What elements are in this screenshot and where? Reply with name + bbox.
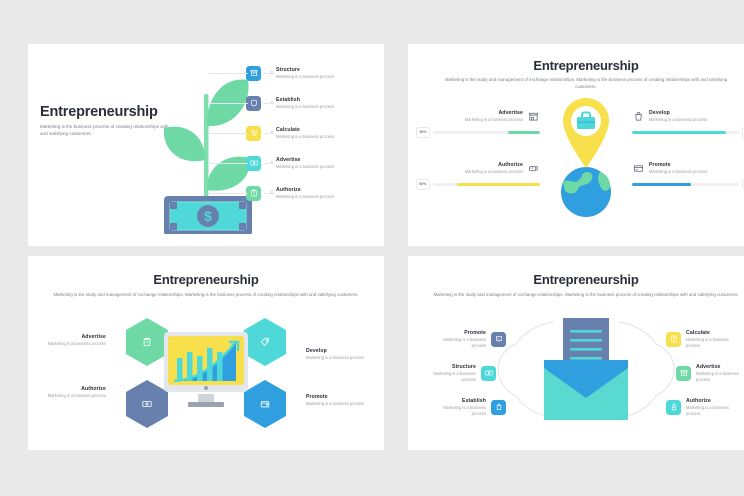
envelope-graphic [538,316,634,426]
node-label: Establish [430,398,486,404]
list-item-text: Calculate Marketing is a business proces… [276,127,376,140]
node-authorize[interactable]: Authorize Marketing is a business proces… [666,398,742,417]
metric-label: Promote [649,162,707,168]
list-item-label: Advertise [276,157,376,163]
list-item-desc: Marketing is a business process [276,194,376,200]
percent-badge: 60% [416,179,430,190]
cart-icon[interactable] [246,126,261,141]
node-label: Advertise [696,364,744,370]
list-item[interactable]: Advertise Marketing is a business proces… [246,148,376,178]
banknote-icon[interactable] [481,366,496,381]
shield-icon[interactable] [246,96,261,111]
progress-track[interactable] [632,183,739,187]
node-desc: Marketing is a business process [430,337,486,349]
node-text: Calculate Marketing is a business proces… [686,330,742,349]
metric-bar-row: 50% [632,179,744,190]
bottle-icon[interactable] [666,400,681,415]
label-promote[interactable]: Promote Marketing is a business process [306,394,368,407]
list-item-text: Authorize Marketing is a business proces… [276,187,376,200]
percent-badge: 30% [416,127,430,138]
connector-line [208,193,248,194]
arrow-icon [264,193,274,194]
node-text: Structure Marketing is a business proces… [420,364,476,383]
node-text: Establish Marketing is a business proces… [430,398,486,417]
presentation-icon[interactable] [491,332,506,347]
list-item[interactable]: Structure Marketing is a business proces… [246,58,376,88]
label-title: Promote [306,394,368,400]
node-label: Structure [420,364,476,370]
list-item-text: Advertise Marketing is a business proces… [276,157,376,170]
slide-grid: Entrepreneurship Marketing is the busine… [0,0,744,496]
metric-text: Authorize Marketing is a business proces… [465,162,523,175]
metric-item[interactable]: Develop Marketing is a business process … [632,110,744,162]
calculator-icon[interactable] [666,332,681,347]
node-structure[interactable]: Structure Marketing is a business proces… [420,364,496,383]
label-desc: Marketing is a business process [306,401,368,407]
list-item-label: Structure [276,67,376,73]
label-desc: Marketing is a business process [306,355,368,361]
progress-fill [508,131,540,135]
metric-label: Advertise [465,110,523,116]
list-item-label: Calculate [276,127,376,133]
metric-text: Promote Marketing is a business process [649,162,707,175]
metric-desc: Marketing is a business process [465,117,523,123]
list-item-label: Authorize [276,187,376,193]
progress-fill [632,131,726,135]
slide4-subtitle: Marketing is the study and management of… [432,292,740,299]
slide2-left-column: Advertise Marketing is a business proces… [416,110,540,214]
slide3-subtitle: Marketing is the study and management of… [52,292,360,299]
label-advertise[interactable]: Advertise Marketing is a business proces… [44,334,106,347]
list-item-desc: Marketing is a business process [276,74,376,80]
arrow-icon [264,133,274,134]
metric-desc: Marketing is a business process [465,169,523,175]
connector-line [208,163,248,164]
progress-fill [457,183,540,187]
mailbox-icon[interactable] [527,162,540,175]
metric-desc: Marketing is a business process [649,169,707,175]
slide2-title: Entrepreneurship [408,58,744,73]
metric-text: Develop Marketing is a business process [649,110,707,123]
list-item-text: Structure Marketing is a business proces… [276,67,376,80]
list-item-desc: Marketing is a business process [276,164,376,170]
metric-text: Advertise Marketing is a business proces… [465,110,523,123]
connector-line [208,103,248,104]
node-desc: Marketing is a business process [420,371,476,383]
list-item[interactable]: Authorize Marketing is a business proces… [246,178,376,208]
progress-track[interactable] [632,131,739,135]
node-text: Advertise Marketing is a business proces… [696,364,744,383]
banknote-icon[interactable] [246,156,261,171]
node-calculate[interactable]: Calculate Marketing is a business proces… [666,330,742,349]
slide-1[interactable]: Entrepreneurship Marketing is the busine… [28,44,384,246]
metric-item[interactable]: Promote Marketing is a business process … [632,162,744,214]
clipboard-icon[interactable] [246,186,261,201]
arrow-icon [264,73,274,74]
metric-label: Authorize [465,162,523,168]
node-text: Authorize Marketing is a business proces… [686,398,742,417]
monitor-chart-graphic [126,318,286,428]
list-item[interactable]: Calculate Marketing is a business proces… [246,118,376,148]
label-desc: Marketing is a business process [44,393,106,399]
metric-bar-row: 30% [416,127,540,138]
metric-item[interactable]: Advertise Marketing is a business proces… [416,110,540,162]
label-title: Advertise [44,334,106,340]
label-authorize[interactable]: Authorize Marketing is a business proces… [44,386,106,399]
slide-4[interactable]: Entrepreneurship Marketing is the study … [408,256,744,450]
progress-fill [632,183,691,187]
slide2-right-column: Develop Marketing is a business process … [632,110,744,214]
list-item-desc: Marketing is a business process [276,104,376,110]
slide-3[interactable]: Entrepreneurship Marketing is the study … [28,256,384,450]
arrow-icon [264,163,274,164]
archive-box-icon[interactable] [676,366,691,381]
list-item[interactable]: Establish Marketing is a business proces… [246,88,376,118]
node-establish[interactable]: Establish Marketing is a business proces… [430,398,506,417]
map-pin-globe-graphic [550,96,622,218]
node-desc: Marketing is a business process [696,371,744,383]
node-desc: Marketing is a business process [686,405,742,417]
node-desc: Marketing is a business process [686,337,742,349]
slide4-title: Entrepreneurship [408,272,744,287]
list-item-text: Establish Marketing is a business proces… [276,97,376,110]
label-desc: Marketing is a business process [44,341,106,347]
slide-2[interactable]: Entrepreneurship Marketing is the study … [408,44,744,246]
metric-item[interactable]: Authorize Marketing is a business proces… [416,162,540,214]
list-item-label: Establish [276,97,376,103]
slide3-title: Entrepreneurship [28,272,384,287]
slide1-title: Entrepreneurship [40,104,158,120]
arrow-icon [264,103,274,104]
node-text: Promote Marketing is a business process [430,330,486,349]
slide2-subtitle: Marketing is the study and management of… [434,77,738,90]
node-label: Calculate [686,330,742,336]
slide1-item-list: Structure Marketing is a business proces… [246,58,376,208]
store-icon[interactable] [527,110,540,123]
node-label: Authorize [686,398,742,404]
metric-label: Develop [649,110,707,116]
progress-track[interactable] [433,131,540,135]
archive-box-icon[interactable] [246,66,261,81]
card-icon[interactable] [632,162,645,175]
label-develop[interactable]: Develop Marketing is a business process [306,348,368,361]
slide3-diagram [126,318,286,428]
node-advertise[interactable]: Advertise Marketing is a business proces… [676,364,744,383]
progress-track[interactable] [433,183,540,187]
metric-bar-row: 50% [632,127,744,138]
connector-line [208,73,248,74]
label-title: Authorize [44,386,106,392]
bag-icon[interactable] [632,110,645,123]
bag-icon[interactable] [491,400,506,415]
node-promote[interactable]: Promote Marketing is a business process [430,330,506,349]
list-item-desc: Marketing is a business process [276,134,376,140]
label-title: Develop [306,348,368,354]
node-label: Promote [430,330,486,336]
node-desc: Marketing is a business process [430,405,486,417]
metric-desc: Marketing is a business process [649,117,707,123]
connector-line [208,133,248,134]
metric-bar-row: 60% [416,179,540,190]
svg-text:$: $ [204,208,212,224]
